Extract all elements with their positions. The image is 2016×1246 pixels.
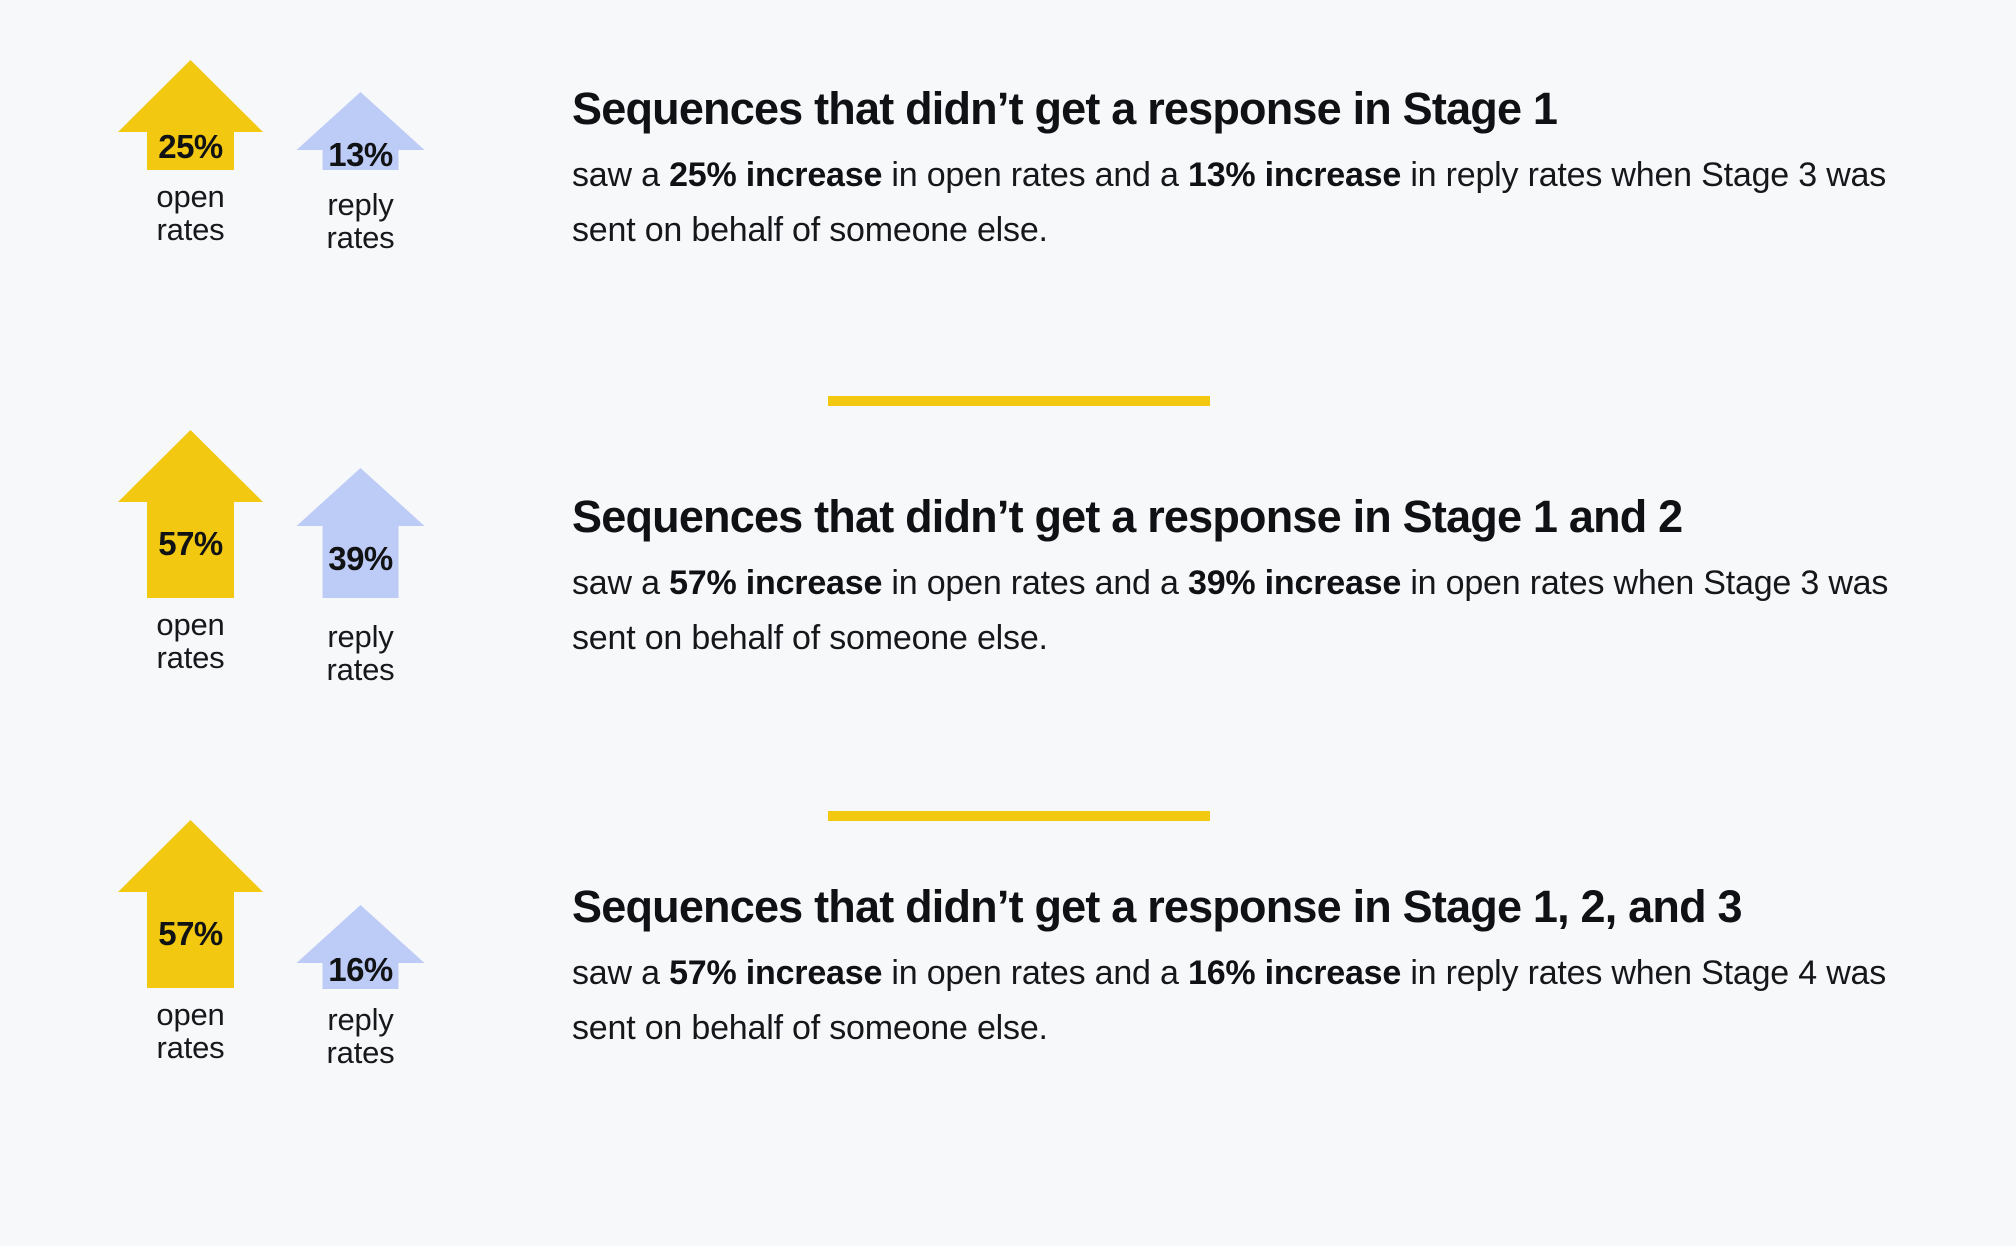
metric-caption: open rates bbox=[118, 180, 263, 247]
arrow-reply-rates: 16% bbox=[288, 905, 433, 989]
copy-stage-1: Sequences that didn’t get a response in … bbox=[572, 84, 1982, 259]
body-seg-1: saw a bbox=[572, 564, 669, 602]
body-stat-2: 13% increase bbox=[1188, 156, 1401, 194]
metric-caption: open rates bbox=[118, 608, 263, 675]
stat-block-stage-1-and-2: 57% open rates 39% bbox=[0, 430, 2016, 720]
metric-caption-line1: open bbox=[156, 607, 224, 642]
body-stat-1: 57% increase bbox=[669, 954, 882, 992]
metric-caption-line2: rates bbox=[118, 1031, 263, 1064]
arrow-reply-rates: 13% bbox=[288, 92, 433, 170]
body-seg-2: in open rates and a bbox=[882, 156, 1188, 194]
stat-block-stage-1: 25% open rates 13% bbox=[0, 60, 2016, 320]
arrow-value-label: 16% bbox=[288, 951, 433, 989]
body-stat-2: 16% increase bbox=[1188, 954, 1401, 992]
body-seg-2: in open rates and a bbox=[882, 564, 1188, 602]
metric-caption: reply rates bbox=[288, 188, 433, 255]
metric-caption-line1: open bbox=[156, 179, 224, 214]
metric-caption: reply rates bbox=[288, 1003, 433, 1070]
metric-caption-line2: rates bbox=[288, 1036, 433, 1069]
metric-caption-line2: rates bbox=[118, 641, 263, 674]
up-arrow-icon bbox=[118, 820, 263, 988]
metric-reply-rates-stage-1-and-2: 39% reply rates bbox=[288, 468, 433, 687]
block-body: saw a 57% increase in open rates and a 1… bbox=[572, 946, 1912, 1056]
arrow-open-rates: 57% bbox=[118, 820, 263, 988]
copy-stage-1-and-2: Sequences that didn’t get a response in … bbox=[572, 492, 1982, 667]
copy-stage-1-2-and-3: Sequences that didn’t get a response in … bbox=[572, 882, 1982, 1057]
up-arrow-icon bbox=[118, 430, 263, 598]
block-body: saw a 57% increase in open rates and a 3… bbox=[572, 556, 1912, 666]
metric-open-rates-stage-1: 25% open rates bbox=[118, 60, 263, 247]
metric-caption-line1: reply bbox=[327, 1002, 393, 1037]
block-heading: Sequences that didn’t get a response in … bbox=[572, 882, 1982, 932]
stat-block-stage-1-2-and-3: 57% open rates 16% bbox=[0, 820, 2016, 1120]
metric-reply-rates-stage-1-2-and-3: 16% reply rates bbox=[288, 905, 433, 1070]
arrow-open-rates: 57% bbox=[118, 430, 263, 598]
body-stat-1: 25% increase bbox=[669, 156, 882, 194]
arrow-value-label: 13% bbox=[288, 136, 433, 174]
up-arrow-icon bbox=[288, 468, 433, 598]
infographic-root: 25% open rates 13% bbox=[0, 0, 2016, 1246]
arrow-open-rates: 25% bbox=[118, 60, 263, 170]
body-stat-1: 57% increase bbox=[669, 564, 882, 602]
arrow-value-label: 39% bbox=[288, 540, 433, 578]
metric-caption-line2: rates bbox=[118, 213, 263, 246]
metric-caption: open rates bbox=[118, 998, 263, 1065]
arrow-reply-rates: 39% bbox=[288, 468, 433, 598]
metric-open-rates-stage-1-and-2: 57% open rates bbox=[118, 430, 263, 675]
arrow-value-label: 25% bbox=[118, 128, 263, 166]
arrow-value-label: 57% bbox=[118, 915, 263, 953]
metric-caption-line1: open bbox=[156, 997, 224, 1032]
block-heading: Sequences that didn’t get a response in … bbox=[572, 492, 1982, 542]
metric-open-rates-stage-1-2-and-3: 57% open rates bbox=[118, 820, 263, 1065]
metric-reply-rates-stage-1: 13% reply rates bbox=[288, 92, 433, 255]
body-stat-2: 39% increase bbox=[1188, 564, 1401, 602]
metric-caption-line2: rates bbox=[288, 221, 433, 254]
block-heading: Sequences that didn’t get a response in … bbox=[572, 84, 1982, 134]
metric-caption: reply rates bbox=[288, 620, 433, 687]
metric-caption-line1: reply bbox=[327, 187, 393, 222]
body-seg-1: saw a bbox=[572, 954, 669, 992]
section-divider bbox=[828, 396, 1210, 406]
body-seg-2: in open rates and a bbox=[882, 954, 1188, 992]
metric-caption-line1: reply bbox=[327, 619, 393, 654]
block-body: saw a 25% increase in open rates and a 1… bbox=[572, 148, 1912, 258]
arrow-value-label: 57% bbox=[118, 525, 263, 563]
metric-caption-line2: rates bbox=[288, 653, 433, 686]
body-seg-1: saw a bbox=[572, 156, 669, 194]
